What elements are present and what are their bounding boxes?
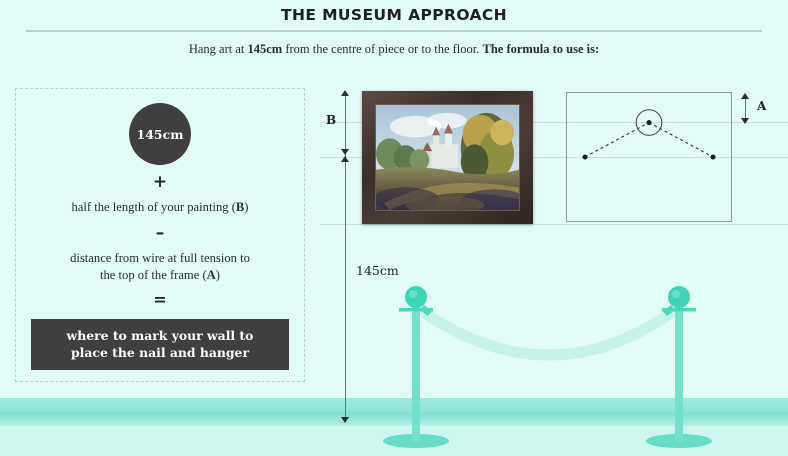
subtitle-part-2: from the centre of piece or to the floor… — [282, 42, 482, 56]
page-subtitle: Hang art at 145cm from the centre of pie… — [0, 42, 788, 57]
velvet-rope-icon — [420, 310, 675, 355]
arrowhead-a-top — [741, 93, 749, 99]
formula-result-line2: place the nail and hanger — [71, 345, 249, 360]
dimension-label-a: A — [757, 99, 766, 113]
painting-artwork-icon — [376, 105, 519, 210]
gridline-bottom — [320, 224, 788, 225]
dimension-label-b: B — [326, 113, 336, 127]
formula-term-a-line1: distance from wire at full tension to — [70, 251, 250, 265]
formula-term-a-line2: the top of the frame ( — [100, 268, 207, 282]
formula-circle-145cm: 145cm — [129, 103, 191, 165]
title-divider — [26, 30, 762, 32]
floor-lower — [0, 426, 788, 456]
formula-term-b-close: ) — [244, 200, 248, 214]
arrowhead-b-bottom — [341, 149, 349, 155]
formula-panel: 145cm + half the length of your painting… — [15, 88, 305, 382]
subtitle-bold-formula: The formula to use is: — [482, 42, 599, 56]
painting-canvas — [375, 104, 520, 211]
subtitle-bold-145cm: 145cm — [247, 42, 282, 56]
arrowhead-top — [341, 90, 349, 96]
dimension-line-vertical — [345, 93, 346, 422]
operator-plus: + — [153, 174, 167, 191]
formula-result-box: where to mark your wall to place the nai… — [31, 319, 289, 370]
operator-minus: – — [156, 225, 165, 242]
frame-back-diagram — [566, 92, 732, 222]
floor-band — [0, 398, 788, 426]
formula-result-line1: where to mark your wall to — [67, 328, 254, 343]
framed-painting — [362, 91, 533, 224]
infographic-canvas: THE MUSEUM APPROACH Hang art at 145cm fr… — [0, 0, 788, 456]
hanging-wire-diagram-icon — [567, 93, 731, 221]
formula-term-b: half the length of your painting (B) — [72, 199, 249, 216]
arrowhead-bottom — [341, 417, 349, 423]
page-title: THE MUSEUM APPROACH — [0, 6, 788, 24]
dimension-label-145cm: 145cm — [356, 263, 399, 278]
operator-equals: = — [153, 292, 166, 308]
formula-term-a-close: ) — [216, 268, 220, 282]
formula-term-a-letter: A — [207, 268, 216, 282]
subtitle-part-1: Hang art at — [189, 42, 248, 56]
formula-term-b-text: half the length of your painting ( — [72, 200, 236, 214]
arrowhead-mid-up — [341, 156, 349, 162]
formula-term-a: distance from wire at full tension to th… — [70, 250, 250, 284]
arrowhead-a-bottom — [741, 118, 749, 124]
